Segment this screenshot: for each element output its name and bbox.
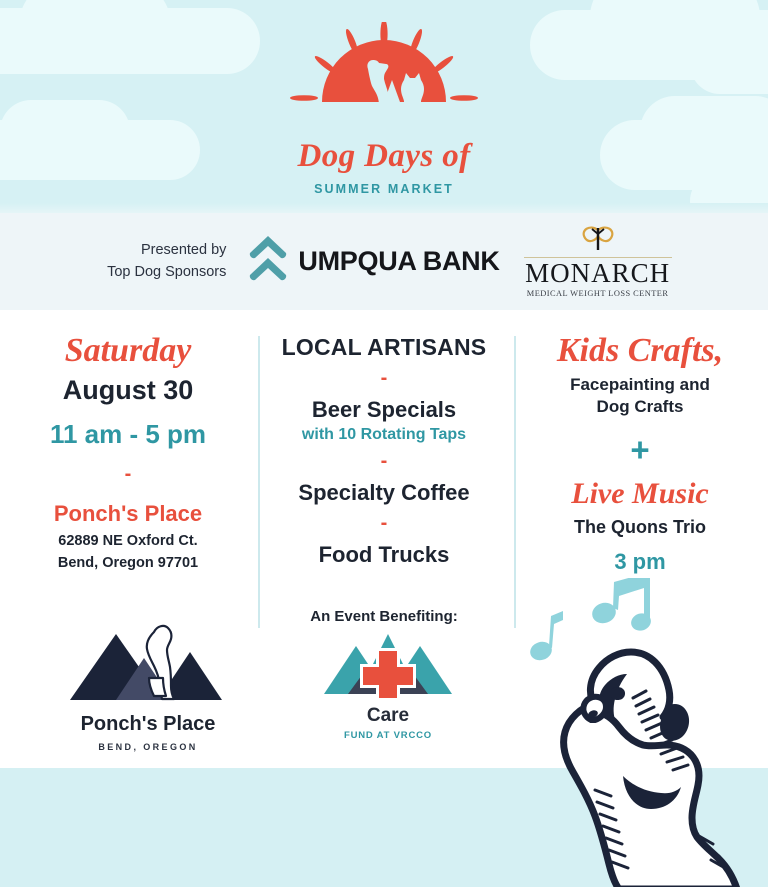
presented-by-line2: Top Dog Sponsors (94, 262, 226, 283)
separator-dash: - (14, 464, 242, 484)
kids-crafts-heading: Kids Crafts, (526, 334, 754, 368)
care-fund-subtitle: FUND AT VRCCO (318, 730, 458, 741)
ponchs-place-location: BEND, OREGON (58, 742, 238, 752)
ponchs-place-name: Ponch's Place (58, 713, 238, 736)
vendor-beer-subtitle: with 10 Rotating Taps (270, 426, 498, 444)
care-fund-name: Care (318, 705, 458, 727)
vendor-food-trucks: Food Trucks (270, 542, 498, 568)
monarch-tagline: MEDICAL WEIGHT LOSS CENTER (527, 289, 669, 298)
logo-subtitle: SUMMER MARKET (0, 182, 768, 196)
event-date: August 30 (14, 375, 242, 406)
column-date-location: Saturday August 30 11 am - 5 pm - Ponch'… (0, 334, 256, 625)
umpqua-bank-logo: UMPQUA BANK (248, 234, 499, 289)
sponsor-band: Presented by Top Dog Sponsors UMPQUA BAN… (0, 213, 768, 311)
umpqua-bank-wordmark: UMPQUA BANK (298, 246, 499, 277)
band-name: The Quons Trio (526, 517, 754, 538)
presented-by-line1: Presented by (94, 240, 226, 261)
kids-crafts-line2: Dog Crafts (526, 396, 754, 418)
kids-crafts-line1: Facepainting and (526, 374, 754, 396)
care-fund-logo: Care FUND AT VRCCO (318, 620, 458, 741)
vendor-specialty-coffee: Specialty Coffee (270, 480, 498, 506)
event-logo: Dog Days of SUMMER MARKET (0, 22, 768, 196)
sunburst-icon (264, 22, 504, 134)
ponchs-place-mountain-dog-logo-icon (58, 691, 238, 708)
howling-dog-illustration (515, 578, 768, 887)
event-poster: Dog Days of SUMMER MARKET Presented by T… (0, 0, 768, 887)
local-artisans-heading: LOCAL ARTISANS (270, 334, 498, 361)
separator-dash: - (270, 451, 498, 471)
monarch-wordmark: MONARCH (525, 260, 670, 287)
separator-dash: - (270, 368, 498, 388)
column-vendors: LOCAL ARTISANS - Beer Specials with 10 R… (256, 334, 512, 625)
ponchs-place-logo: Ponch's Place BEND, OREGON (58, 612, 238, 752)
live-music-heading: Live Music (526, 479, 754, 509)
event-time: 11 am - 5 pm (14, 419, 242, 450)
event-day: Saturday (14, 334, 242, 368)
logo-title: Dog Days of (0, 140, 768, 173)
presented-by-label: Presented by Top Dog Sponsors (94, 240, 226, 282)
venue-name: Ponch's Place (14, 501, 242, 527)
venue-address-line1: 62889 NE Oxford Ct. (14, 531, 242, 552)
umpqua-chevrons-icon (248, 234, 288, 289)
separator-dash: - (270, 513, 498, 533)
sky-fade (0, 203, 768, 213)
venue-address-line2: Bend, Oregon 97701 (14, 553, 242, 574)
plus-separator: + (526, 433, 754, 466)
monarch-logo: MONARCH MEDICAL WEIGHT LOSS CENTER (522, 226, 674, 298)
music-start-time: 3 pm (526, 549, 754, 575)
monarch-butterfly-icon (576, 226, 620, 257)
care-fund-mountain-cross-logo-icon (318, 685, 458, 702)
vendor-beer-specials: Beer Specials (270, 397, 498, 423)
